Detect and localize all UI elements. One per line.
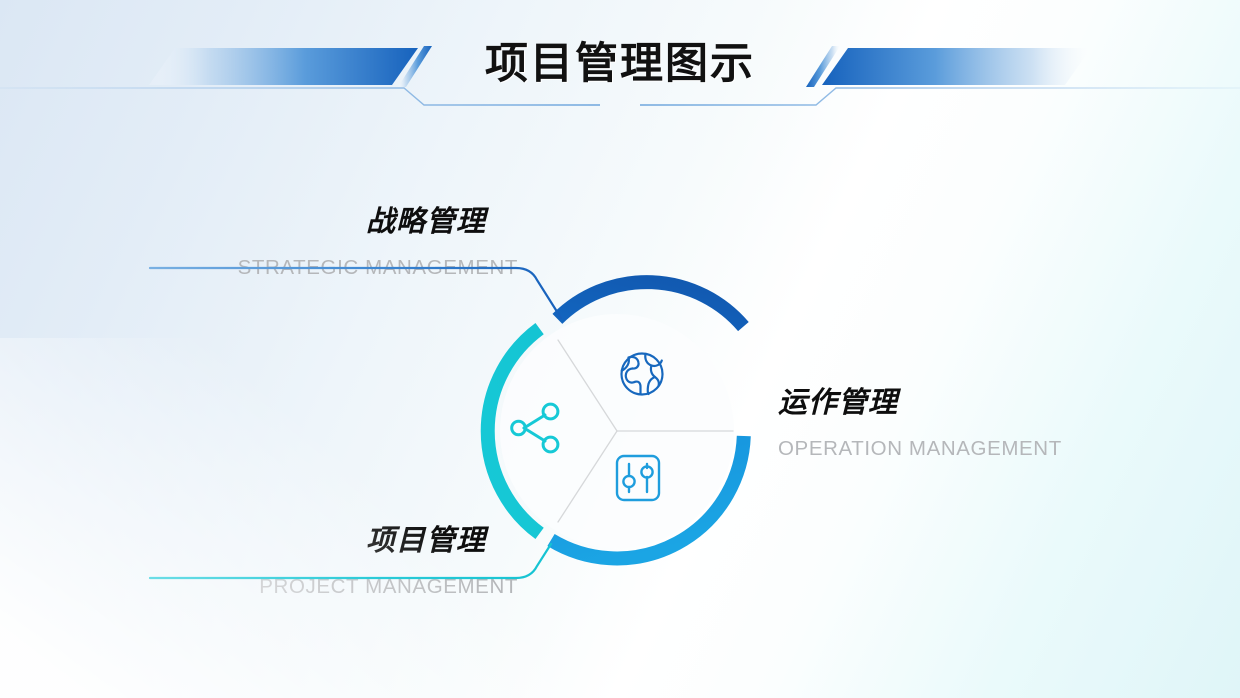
slide-canvas: 项目管理图示 [0, 0, 1240, 698]
sliders-icon [617, 456, 659, 500]
icon-layer [0, 0, 1240, 698]
share-nodes-icon [512, 404, 558, 452]
globe-icon [622, 354, 663, 395]
page-title: 项目管理图示 [0, 36, 1240, 92]
